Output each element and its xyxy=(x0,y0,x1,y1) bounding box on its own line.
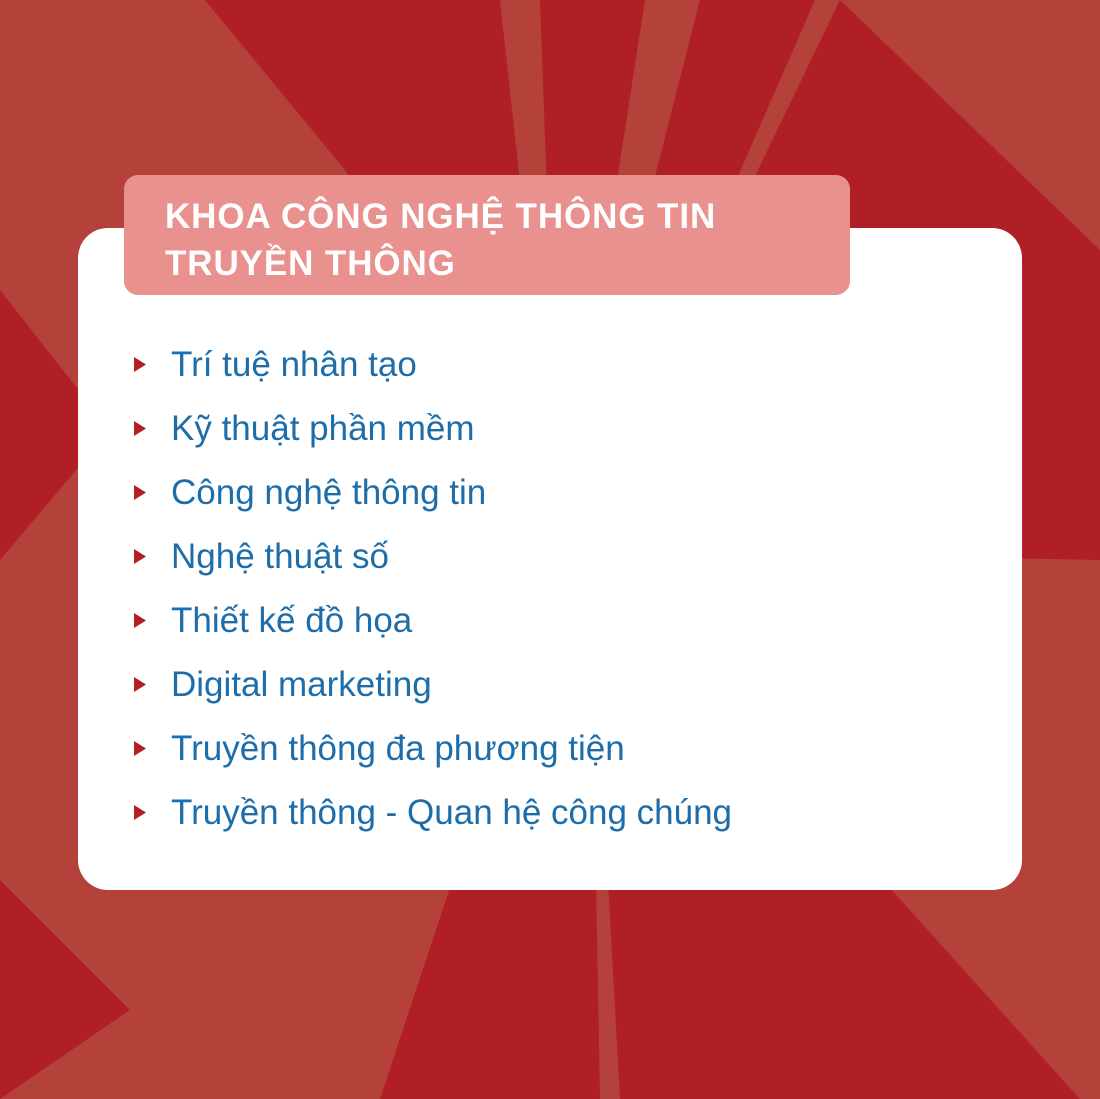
majors-list: Trí tuệ nhân tạo Kỹ thuật phần mềm Công … xyxy=(78,228,1022,844)
triangle-right-icon xyxy=(133,740,147,757)
list-item[interactable]: Truyền thông đa phương tiện xyxy=(133,716,1022,780)
triangle-right-icon xyxy=(133,676,147,693)
major-label: Thiết kế đồ họa xyxy=(171,603,412,638)
triangle-right-icon xyxy=(133,484,147,501)
triangle-right-icon xyxy=(133,548,147,565)
triangle-right-icon xyxy=(133,804,147,821)
list-item[interactable]: Thiết kế đồ họa xyxy=(133,588,1022,652)
poster-canvas: Trí tuệ nhân tạo Kỹ thuật phần mềm Công … xyxy=(0,0,1100,1099)
triangle-right-icon xyxy=(133,356,147,373)
list-item[interactable]: Kỹ thuật phần mềm xyxy=(133,396,1022,460)
list-item[interactable]: Công nghệ thông tin xyxy=(133,460,1022,524)
major-label: Trí tuệ nhân tạo xyxy=(171,347,417,382)
list-item[interactable]: Nghệ thuật số xyxy=(133,524,1022,588)
major-label: Truyền thông - Quan hệ công chúng xyxy=(171,795,732,830)
major-label: Công nghệ thông tin xyxy=(171,475,486,510)
header-banner: KHOA CÔNG NGHỆ THÔNG TIN TRUYỀN THÔNG xyxy=(124,175,850,295)
list-item[interactable]: Digital marketing xyxy=(133,652,1022,716)
major-label: Nghệ thuật số xyxy=(171,539,389,574)
triangle-right-icon xyxy=(133,612,147,629)
page-title: KHOA CÔNG NGHỆ THÔNG TIN TRUYỀN THÔNG xyxy=(165,194,850,287)
list-item[interactable]: Truyền thông - Quan hệ công chúng xyxy=(133,780,1022,844)
triangle-right-icon xyxy=(133,420,147,437)
major-label: Digital marketing xyxy=(171,667,432,702)
major-label: Truyền thông đa phương tiện xyxy=(171,731,625,766)
list-item[interactable]: Trí tuệ nhân tạo xyxy=(133,332,1022,396)
major-label: Kỹ thuật phần mềm xyxy=(171,411,475,446)
